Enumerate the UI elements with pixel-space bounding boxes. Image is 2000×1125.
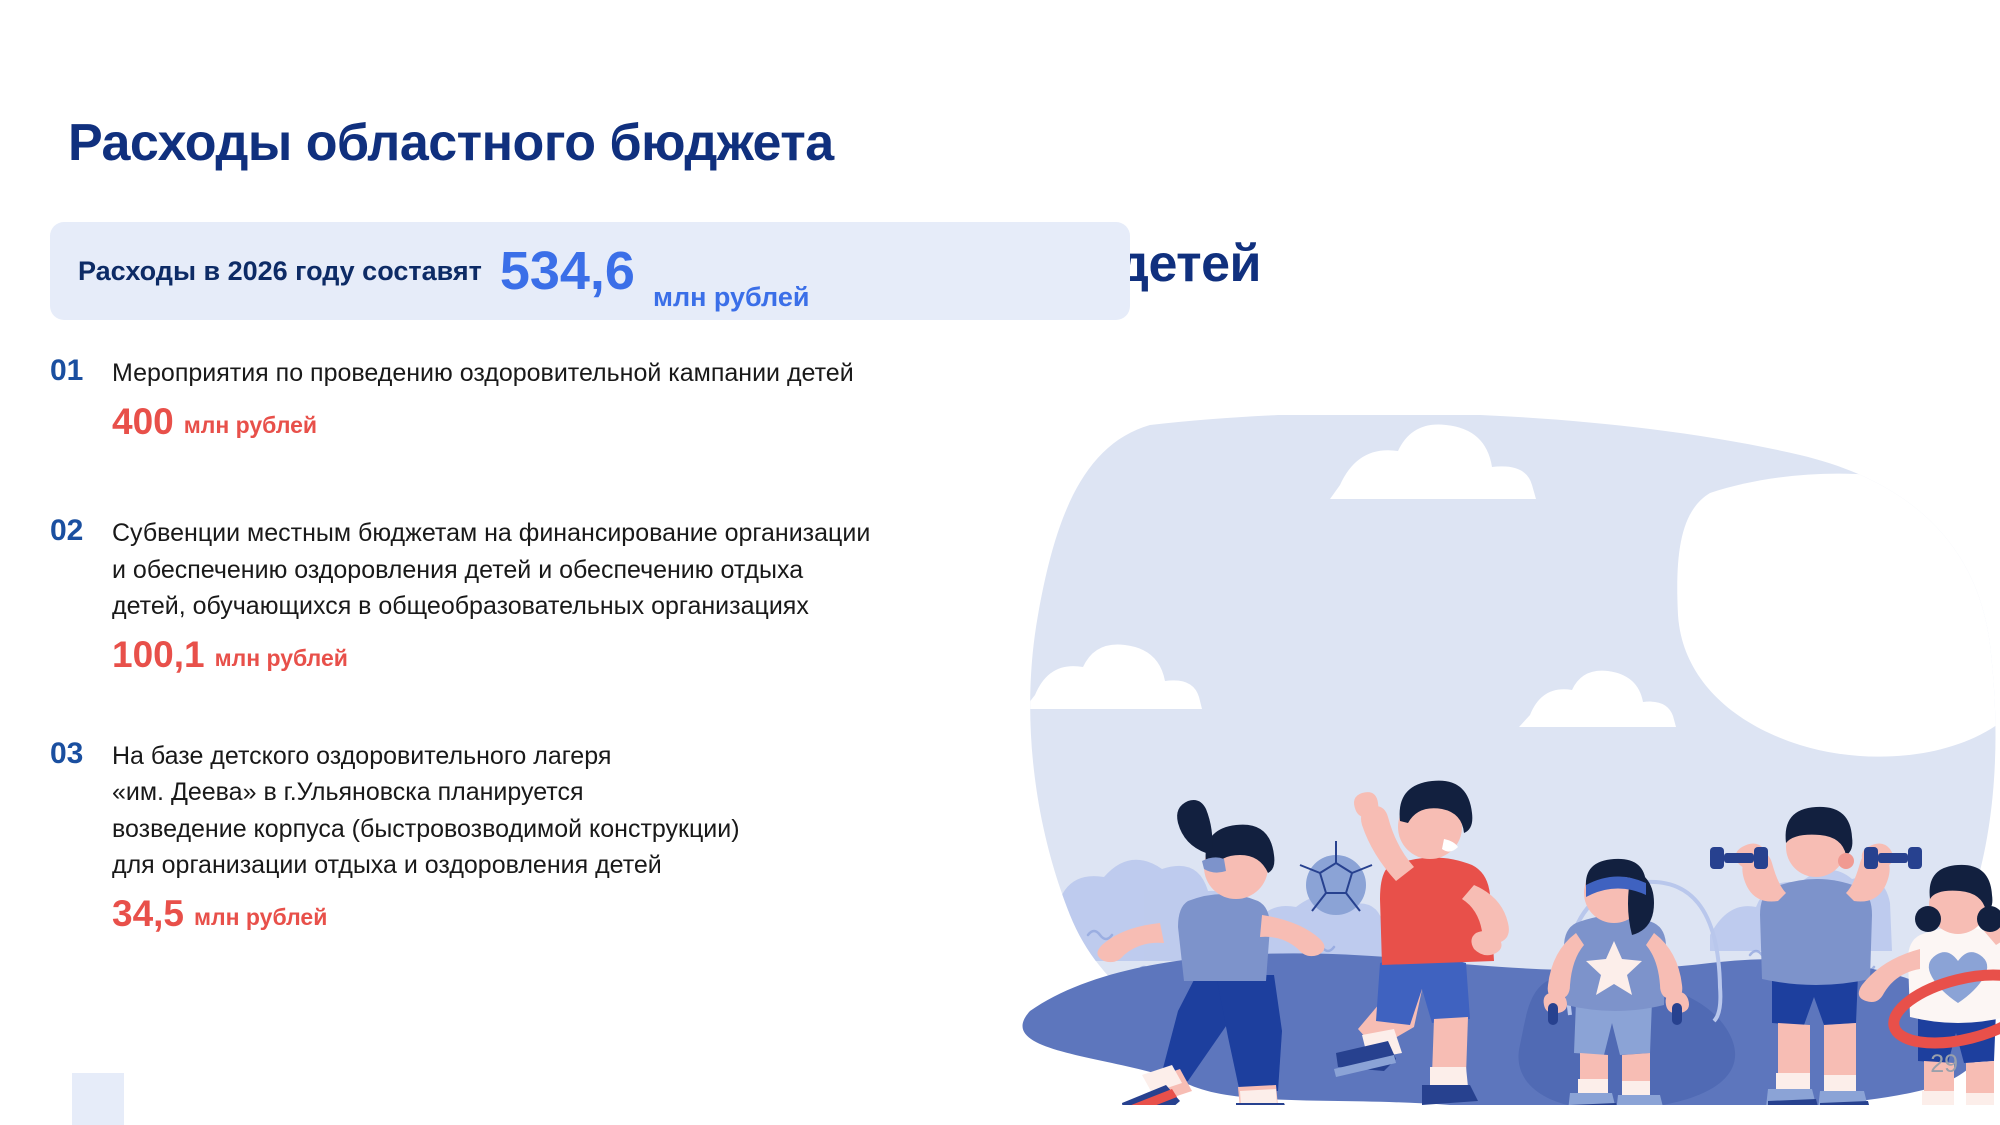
list-item-number: 01	[50, 352, 96, 390]
summary-banner: Расходы в 2026 году составят 534,6 млн р…	[50, 222, 1130, 320]
summary-unit: млн рублей	[653, 282, 810, 320]
list-item-amount: 400 млн рублей	[112, 403, 1060, 440]
slide-root: Расходы областного бюджета на организаци…	[0, 0, 2000, 1125]
list-item-number: 03	[50, 735, 96, 773]
list-item-amount: 100,1 млн рублей	[112, 636, 1060, 673]
list-item-text: Мероприятия по проведению оздоровительно…	[112, 352, 854, 391]
list-item-amount-unit: млн рублей	[215, 647, 348, 673]
children-sports-illustration	[1010, 415, 2000, 1105]
list-item-head: 01 Мероприятия по проведению оздоровител…	[50, 352, 1060, 391]
list-item-amount-unit: млн рублей	[194, 906, 327, 932]
list-item-amount-value: 400	[112, 403, 174, 440]
summary-value: 534,6	[500, 244, 635, 298]
list-item-amount-value: 34,5	[112, 895, 184, 932]
corner-decoration	[72, 1073, 124, 1125]
list-item-text: Субвенции местным бюджетам на финансиров…	[112, 512, 870, 624]
list-item-amount-unit: млн рублей	[184, 414, 317, 440]
page-number: 29	[1930, 1050, 1958, 1079]
list-item: 01 Мероприятия по проведению оздоровител…	[50, 352, 1060, 440]
list-item-head: 02 Субвенции местным бюджетам на финанси…	[50, 512, 1060, 624]
list-item: 02 Субвенции местным бюджетам на финанси…	[50, 512, 1060, 673]
list-item-head: 03 На базе детского оздоровительного лаг…	[50, 735, 1060, 883]
budget-items-list: 01 Мероприятия по проведению оздоровител…	[50, 352, 1060, 932]
list-item: 03 На базе детского оздоровительного лаг…	[50, 735, 1060, 932]
list-item-amount-value: 100,1	[112, 636, 205, 673]
list-item-text: На базе детского оздоровительного лагеря…	[112, 735, 740, 883]
summary-label: Расходы в 2026 году составят	[78, 256, 482, 287]
list-item-amount: 34,5 млн рублей	[112, 895, 1060, 932]
page-title-line-1: Расходы областного бюджета	[68, 113, 1488, 174]
list-item-number: 02	[50, 512, 96, 550]
